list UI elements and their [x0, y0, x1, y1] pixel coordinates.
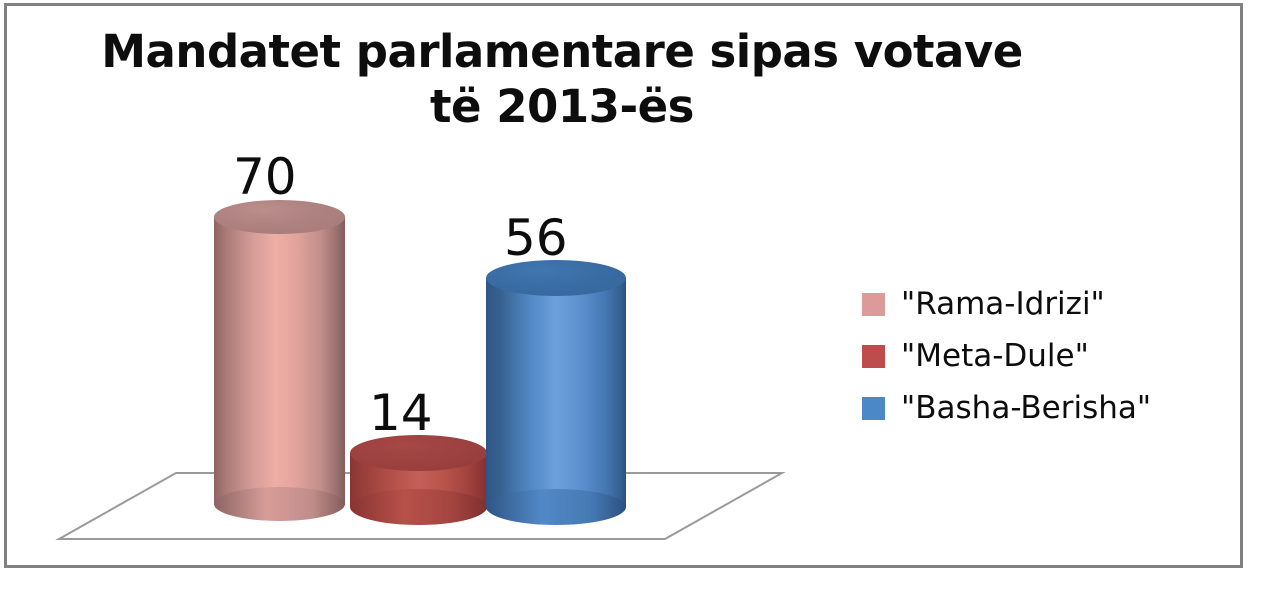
chart-legend: "Rama-Idrizi" "Meta-Dule" "Basha-Berisha…	[862, 278, 1232, 434]
bar-meta-dule[interactable]	[350, 435, 487, 527]
bar-basha-berisha[interactable]	[486, 260, 626, 526]
legend-item-meta-dule[interactable]: "Meta-Dule"	[862, 330, 1232, 382]
data-label-rama-idrizi: 70	[233, 152, 297, 202]
legend-item-label: "Rama-Idrizi"	[901, 286, 1105, 322]
legend-item-label: "Meta-Dule"	[901, 338, 1089, 374]
bar-bottom-ellipse	[214, 487, 345, 521]
data-label-basha-berisha: 56	[504, 213, 568, 263]
bar-body	[214, 217, 345, 505]
legend-swatch-icon	[862, 293, 885, 316]
plot-area: 70 14 56	[7, 6, 847, 568]
bar-rama-idrizi[interactable]	[214, 200, 345, 525]
bar-body	[486, 278, 626, 507]
legend-swatch-icon	[862, 345, 885, 368]
bar-bottom-ellipse	[486, 489, 626, 525]
legend-item-basha-berisha[interactable]: "Basha-Berisha"	[862, 382, 1232, 434]
chart-container: Mandatet parlamentare sipas votave të 20…	[4, 3, 1243, 568]
data-label-meta-dule: 14	[369, 388, 433, 438]
legend-item-label: "Basha-Berisha"	[901, 390, 1151, 426]
legend-item-rama-idrizi[interactable]: "Rama-Idrizi"	[862, 278, 1232, 330]
legend-swatch-icon	[862, 397, 885, 420]
bar-bottom-ellipse	[350, 489, 487, 525]
